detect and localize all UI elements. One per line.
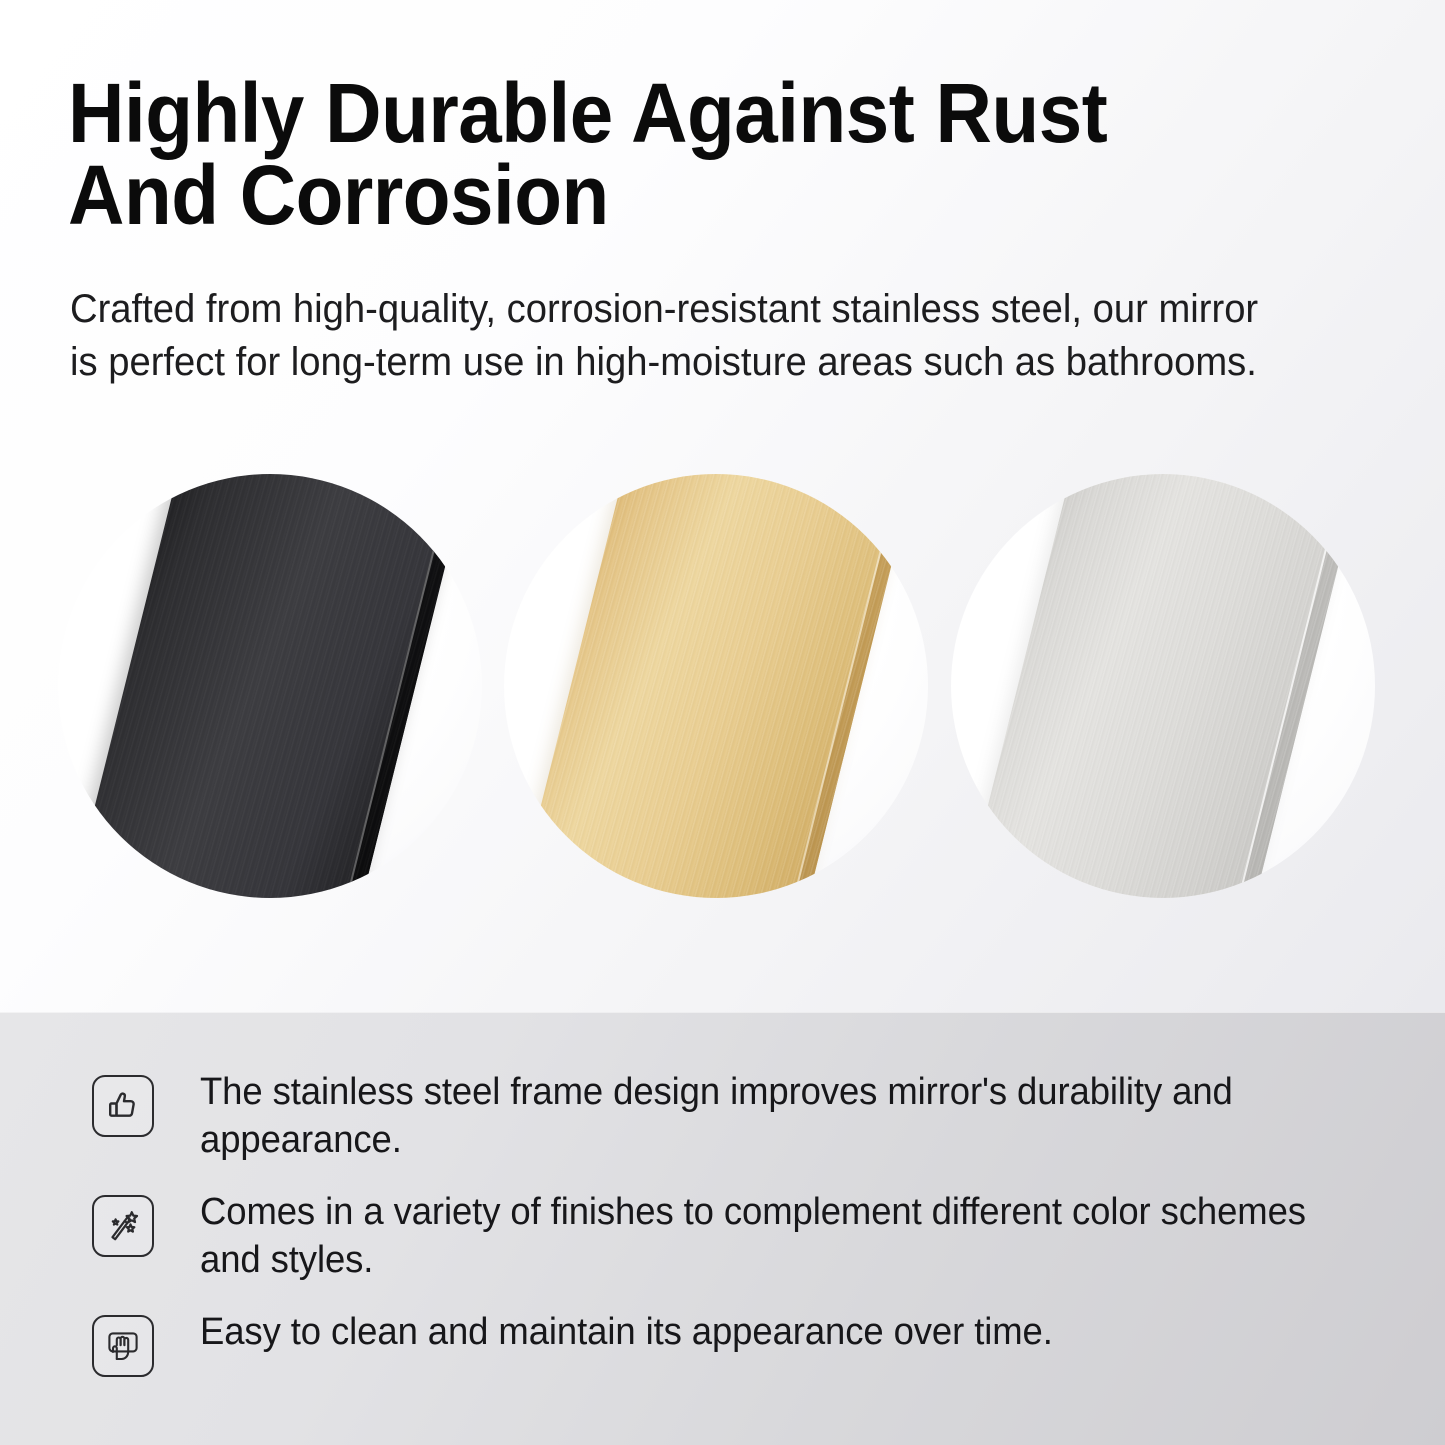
brushed-texture-overlay — [951, 474, 1375, 898]
swatch-brushed-nickel — [951, 474, 1375, 898]
swatch-matte-black — [58, 474, 482, 898]
finish-sample-matte-black — [58, 474, 482, 898]
feature-item: Comes in a variety of finishes to comple… — [92, 1189, 1402, 1285]
feature-text: Easy to clean and maintain its appearanc… — [200, 1309, 1053, 1357]
magic-wand-icon — [92, 1195, 154, 1257]
finish-sample-brushed-nickel — [951, 474, 1375, 898]
finish-sample-brushed-gold — [504, 474, 928, 898]
hero-section: Highly Durable Against Rust And Corrosio… — [0, 0, 1445, 1012]
finish-swatch-gallery — [0, 470, 1445, 910]
feature-list-section: The stainless steel frame design improve… — [0, 1012, 1445, 1445]
brushed-texture-overlay — [504, 474, 928, 898]
feature-item: The stainless steel frame design improve… — [92, 1069, 1402, 1165]
thumbs-up-icon — [92, 1075, 154, 1137]
page-title: Highly Durable Against Rust And Corrosio… — [68, 72, 1258, 237]
product-feature-page: Highly Durable Against Rust And Corrosio… — [0, 0, 1445, 1445]
page-subtitle: Crafted from high-quality, corrosion-res… — [70, 283, 1264, 389]
feature-text: Comes in a variety of finishes to comple… — [200, 1189, 1354, 1285]
brushed-texture-overlay — [58, 474, 482, 898]
swatch-brushed-gold — [504, 474, 928, 898]
feature-item: Easy to clean and maintain its appearanc… — [92, 1309, 1402, 1377]
feature-text: The stainless steel frame design improve… — [200, 1069, 1354, 1165]
wipe-clean-hand-icon — [92, 1315, 154, 1377]
